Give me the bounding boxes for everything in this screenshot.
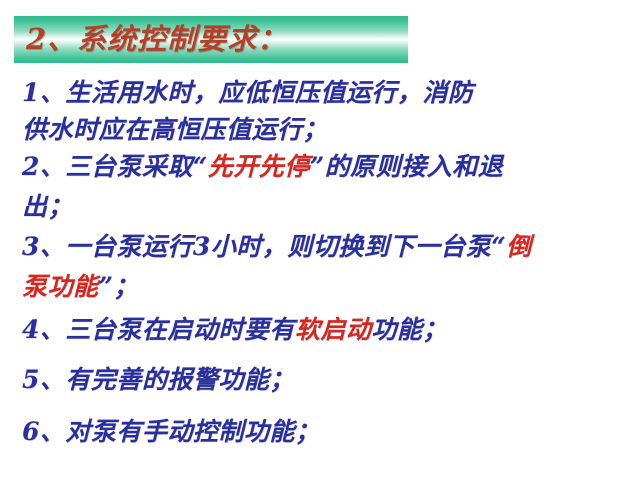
item-2-continuation: 出； bbox=[22, 192, 73, 221]
item-2-suffix: ”的原则接入和退 bbox=[310, 152, 503, 181]
item-6-text: 6、对泵有手动控制功能； bbox=[22, 417, 320, 446]
item-5-text: 5、有完善的报警功能； bbox=[22, 365, 295, 394]
item-2-prefix: 2、三台泵采取“ bbox=[22, 152, 208, 181]
list-item-3-line-1: 3、一台泵运行3小时，则切换到下一台泵“倒 bbox=[22, 229, 622, 265]
list-item-4: 4、三台泵在启动时要有软启动功能； bbox=[22, 309, 622, 350]
item-3-prefix: 3、一台泵运行3小时，则切换到下一台泵“ bbox=[22, 232, 506, 261]
item-3-continuation-suffix: ”； bbox=[99, 272, 139, 301]
slide-canvas: 2、系统控制要求： 1、生活用水时，应低恒压值运行，消防 供水时应在高恒压值运行… bbox=[0, 0, 640, 480]
list-item-6: 6、对泵有手动控制功能； bbox=[22, 411, 622, 452]
list-item-2-line-1: 2、三台泵采取“先开先停”的原则接入和退 bbox=[22, 149, 622, 185]
item-3-highlight-tail: 倒 bbox=[506, 232, 532, 261]
list-item-3-line-2: 泵功能”； bbox=[22, 269, 622, 305]
item-2-highlight: 先开先停 bbox=[208, 152, 310, 181]
body-content: 1、生活用水时，应低恒压值运行，消防 供水时应在高恒压值运行； 2、三台泵采取“… bbox=[22, 74, 622, 452]
page-title: 2、系统控制要求： bbox=[26, 18, 406, 61]
item-4-highlight: 软启动 bbox=[295, 315, 372, 344]
item-4-suffix: 功能； bbox=[371, 315, 448, 344]
list-item-2-line-2: 出； bbox=[22, 189, 622, 225]
list-item-5: 5、有完善的报警功能； bbox=[22, 359, 622, 400]
list-item-1-line-2: 供水时应在高恒压值运行； bbox=[22, 112, 622, 148]
item-1-text-line-1: 1、生活用水时，应低恒压值运行，消防 bbox=[22, 78, 473, 107]
list-item-1-line-1: 1、生活用水时，应低恒压值运行，消防 bbox=[22, 74, 622, 111]
item-1-text-line-2: 供水时应在高恒压值运行； bbox=[22, 115, 328, 144]
item-4-prefix: 4、三台泵在启动时要有 bbox=[22, 315, 295, 344]
item-3-continuation-highlight: 泵功能 bbox=[22, 272, 99, 301]
